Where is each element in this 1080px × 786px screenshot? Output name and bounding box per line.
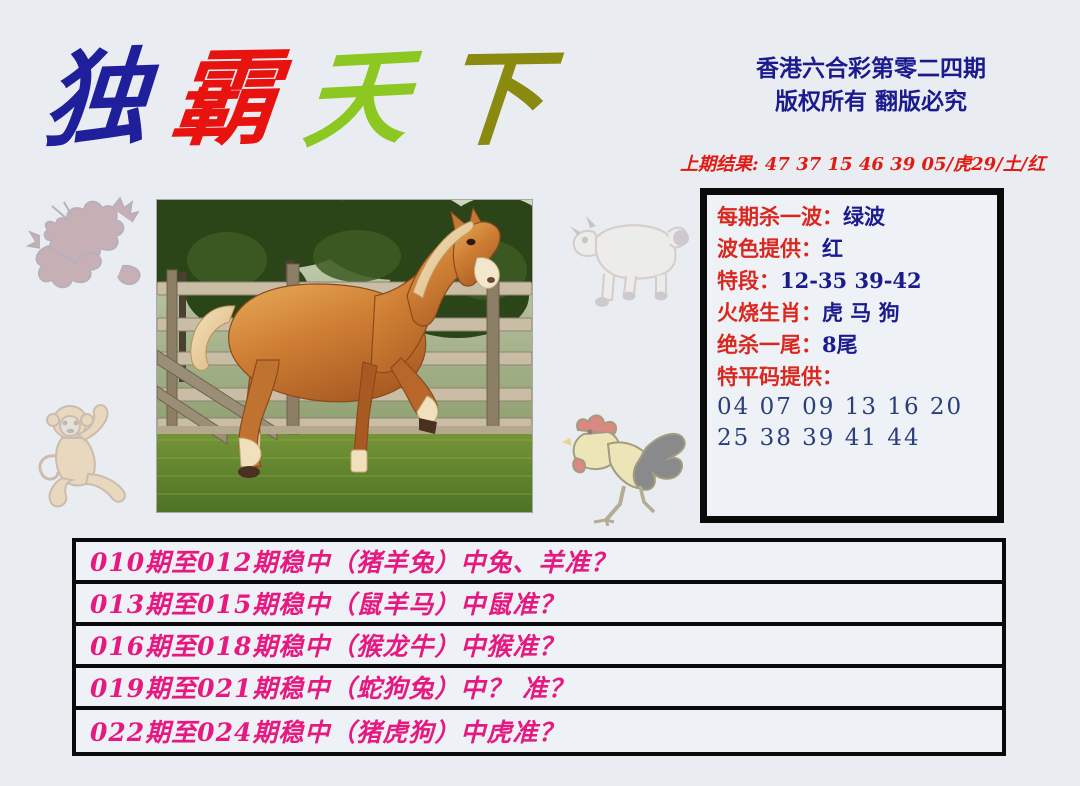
copyright-notice: 版权所有 翻版必究 <box>706 85 1036 118</box>
info-row: 每期杀一波：绿波 <box>717 201 997 233</box>
info-label: 每期杀一波： <box>717 204 843 229</box>
table-row-text: 016期至018期稳中（猴龙牛）中猴准？ <box>90 627 564 663</box>
table-row-text: 010期至012期稳中（猪羊兔）中兔、羊准？ <box>90 543 616 579</box>
table-row: 022期至024期稳中（猪虎狗）中虎准？ <box>76 710 1002 752</box>
info-value: 绿波 <box>843 204 885 229</box>
previous-result: 上期结果: 47 37 15 46 39 05/虎29/土/红 <box>680 150 1040 176</box>
info-row: 火烧生肖：虎 马 狗 <box>717 297 997 329</box>
info-row: 波色提供：红 <box>717 233 997 265</box>
monkey-icon <box>32 392 147 512</box>
header-block: 香港六合彩第零二四期 版权所有 翻版必究 <box>706 52 1036 119</box>
info-value: 12-35 39-42 <box>780 268 922 293</box>
prediction-table: 010期至012期稳中（猪羊兔）中兔、羊准？ 013期至015期稳中（鼠羊马）中… <box>72 538 1006 756</box>
page-title: 独 霸 天 下 <box>44 34 684 164</box>
info-value: 虎 马 狗 <box>822 300 900 325</box>
title-char-1: 独 <box>40 45 152 153</box>
title-char-2: 霸 <box>166 46 281 152</box>
table-row: 013期至015期稳中（鼠羊马）中鼠准？ <box>76 584 1002 626</box>
info-box: 每期杀一波：绿波 波色提供：红 特段：12-35 39-42 火烧生肖：虎 马 … <box>700 188 1004 523</box>
rooster-icon <box>562 404 690 526</box>
table-row: 010期至012期稳中（猪羊兔）中兔、羊准？ <box>76 542 1002 584</box>
table-row-text: 022期至024期稳中（猪虎狗）中虎准？ <box>90 713 564 749</box>
info-label: 绝杀一尾： <box>717 332 822 357</box>
issue-title: 香港六合彩第零二四期 <box>706 52 1036 85</box>
title-char-3: 天 <box>300 44 412 153</box>
info-value: 8尾 <box>822 332 858 357</box>
table-row: 016期至018期稳中（猴龙牛）中猴准？ <box>76 626 1002 668</box>
title-char-4: 下 <box>435 46 548 152</box>
number-line-1: 04 07 09 13 16 20 <box>717 392 997 423</box>
info-label: 特段： <box>717 268 780 293</box>
info-label: 波色提供： <box>717 236 822 261</box>
ox-icon <box>556 198 696 310</box>
info-value: 红 <box>822 236 843 261</box>
poster-page: 独 霸 天 下 香港六合彩第零二四期 版权所有 翻版必究 上期结果: 47 37… <box>0 0 1080 786</box>
dragon-icon <box>26 188 151 308</box>
number-line-2: 25 38 39 41 44 <box>717 423 997 454</box>
info-label: 特平码提供： <box>717 364 843 389</box>
table-row: 019期至021期稳中（蛇狗兔）中？ 准？ <box>76 668 1002 710</box>
info-row: 绝杀一尾：8尾 <box>717 329 997 361</box>
info-row: 特段：12-35 39-42 <box>717 265 997 297</box>
table-row-text: 013期至015期稳中（鼠羊马）中鼠准？ <box>90 585 564 621</box>
horse-photo <box>157 200 532 512</box>
table-row-text: 019期至021期稳中（蛇狗兔）中？ 准？ <box>90 669 574 705</box>
info-label: 火烧生肖： <box>717 300 822 325</box>
info-row: 特平码提供： <box>717 361 997 393</box>
